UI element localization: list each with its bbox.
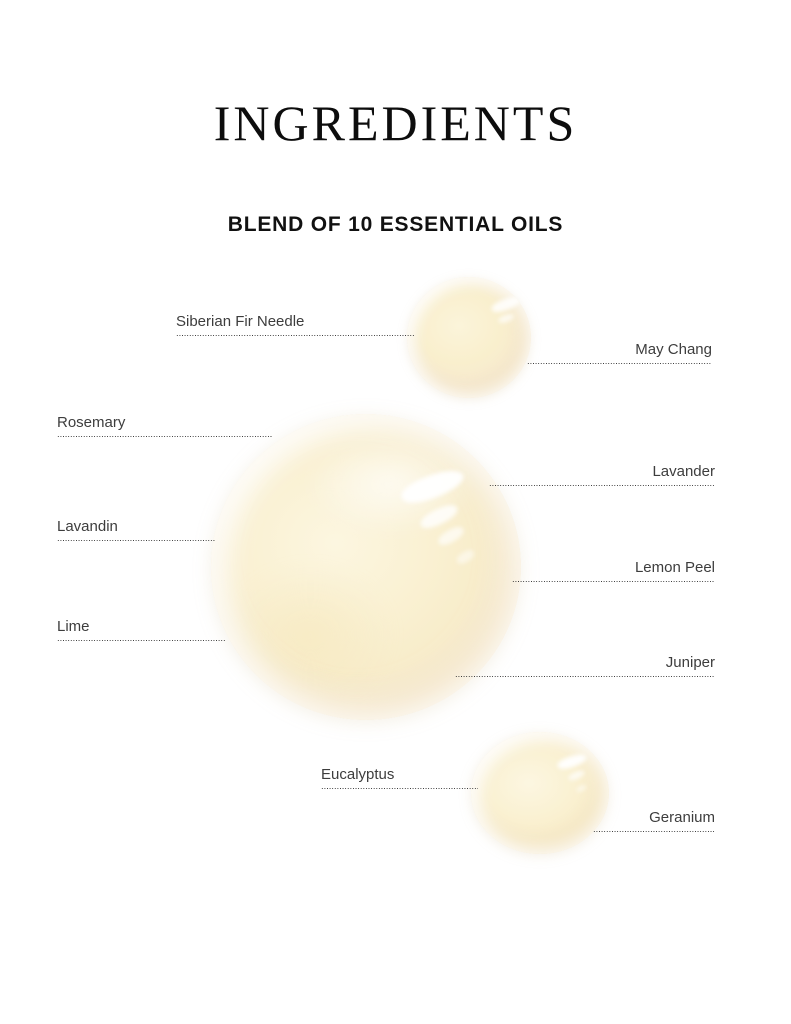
leader-line — [455, 676, 715, 677]
leader-line — [57, 640, 225, 641]
callout-label: Geranium — [593, 809, 715, 831]
callout-rosemary: Rosemary — [57, 414, 273, 437]
callout-label: Lavander — [489, 463, 715, 485]
leader-line — [321, 788, 478, 789]
leader-line — [593, 831, 715, 832]
leader-line — [57, 540, 216, 541]
callout-label: Rosemary — [57, 414, 273, 436]
callout-label: Lime — [57, 618, 225, 640]
callout-geranium: Geranium — [593, 809, 715, 832]
callout-lavandin: Lavandin — [57, 518, 216, 541]
small-top-droplet — [407, 277, 531, 398]
callout-label: Siberian Fir Needle — [176, 313, 414, 335]
callout-label: Lavandin — [57, 518, 216, 540]
callout-lime: Lime — [57, 618, 225, 641]
ingredients-page: INGREDIENTS BLEND OF 10 ESSENTIAL OILS S… — [0, 0, 791, 1024]
leader-line — [512, 581, 715, 582]
droplet-rim — [407, 277, 531, 398]
leader-line — [489, 485, 715, 486]
small-bottom-droplet — [471, 732, 609, 854]
callout-may-chang: May Chang — [527, 341, 712, 364]
leader-line — [176, 335, 414, 336]
callout-label: Juniper — [455, 654, 715, 676]
callout-label: Lemon Peel — [512, 559, 715, 581]
leader-line — [527, 363, 712, 364]
callout-lemon-peel: Lemon Peel — [512, 559, 715, 582]
callout-label: May Chang — [527, 341, 712, 363]
page-subtitle: BLEND OF 10 ESSENTIAL OILS — [0, 212, 791, 237]
page-title: INGREDIENTS — [0, 96, 791, 151]
callout-eucalyptus: Eucalyptus — [321, 766, 478, 789]
callout-label: Eucalyptus — [321, 766, 478, 788]
callout-siberian-fir-needle: Siberian Fir Needle — [176, 313, 414, 336]
leader-line — [57, 436, 273, 437]
droplet-rim — [471, 732, 609, 854]
callout-lavander: Lavander — [489, 463, 715, 486]
callout-juniper: Juniper — [455, 654, 715, 677]
